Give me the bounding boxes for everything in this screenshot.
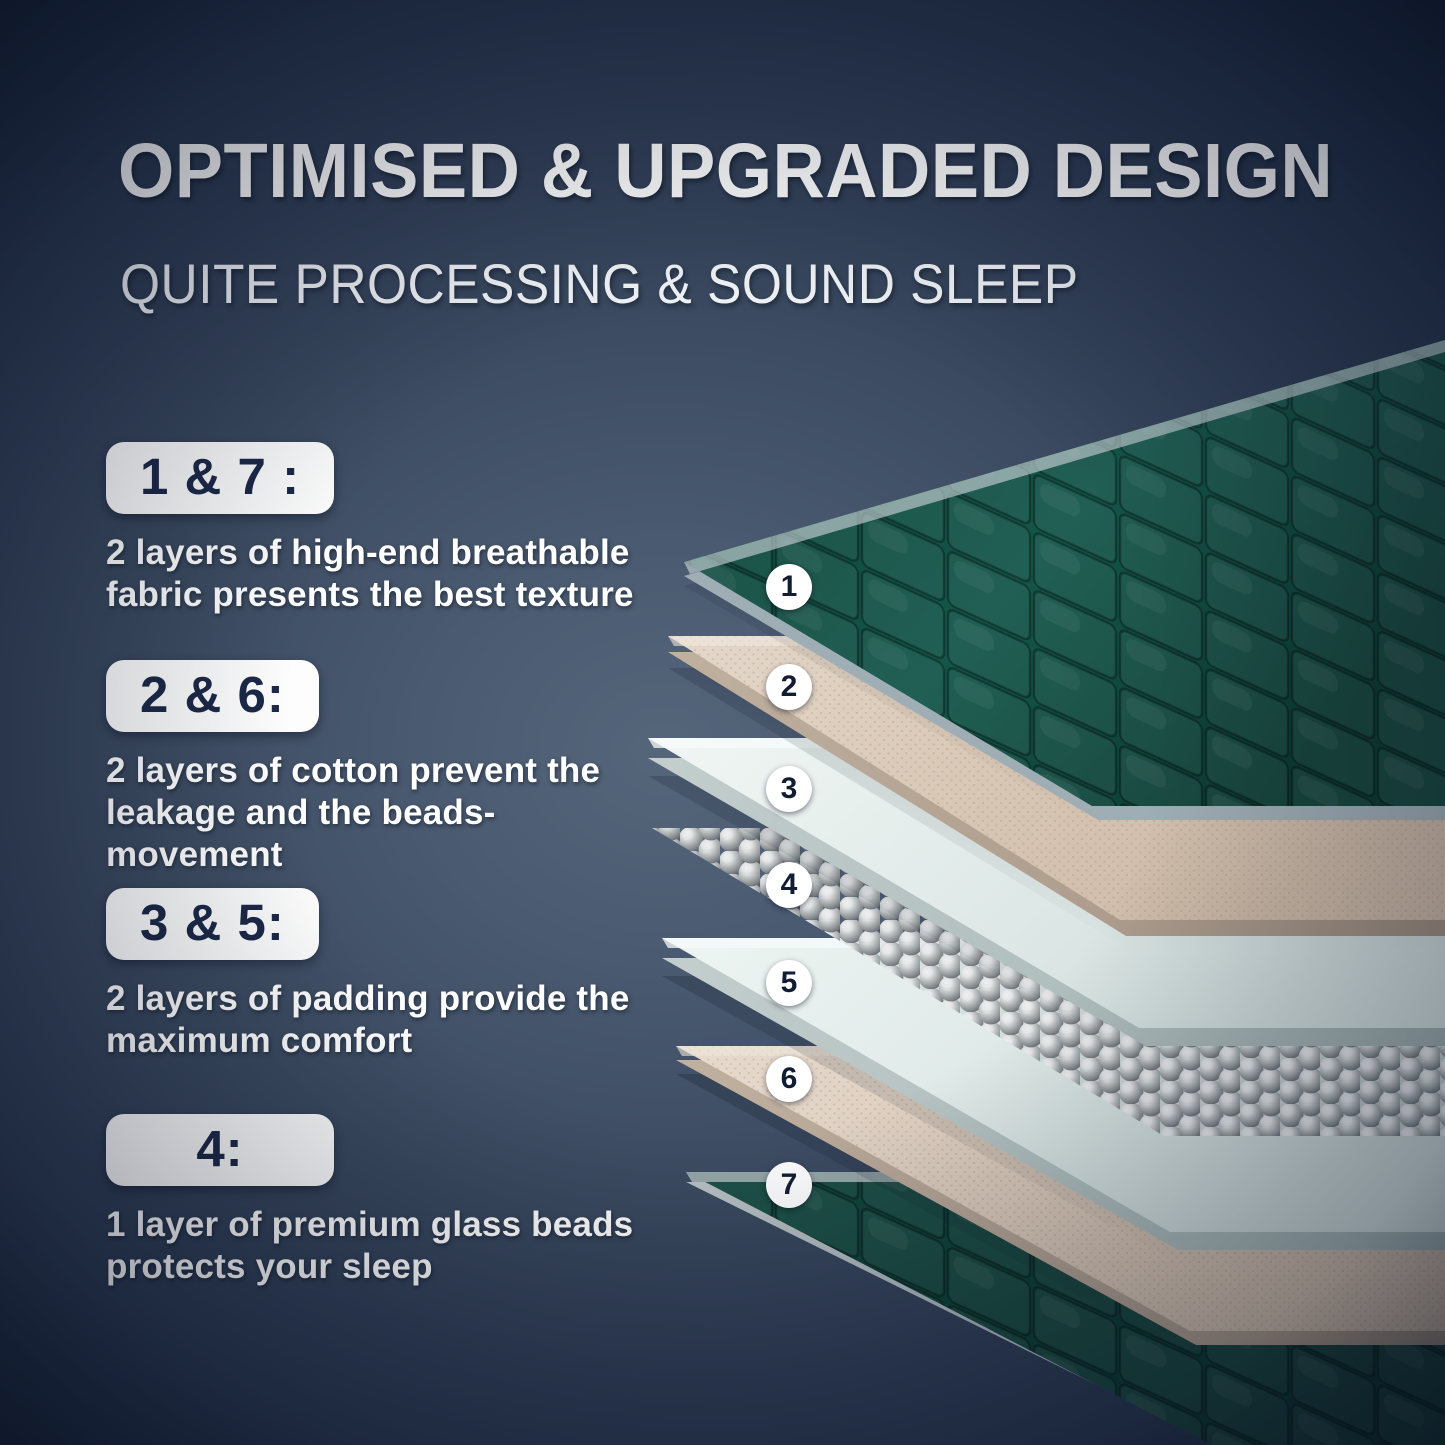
feature-block-4: 4: 1 layer of premium glass beads protec… — [106, 1114, 666, 1288]
feature-description: 2 layers of high-end breathable fabric p… — [106, 532, 666, 616]
layer-marker-2[interactable]: 2 — [766, 664, 812, 710]
layer-marker-3[interactable]: 3 — [766, 766, 812, 812]
layer-marker-7[interactable]: 7 — [766, 1162, 812, 1208]
feature-badge-label: 1 & 7 : — [140, 449, 300, 505]
infographic-canvas: 1 2 3 4 5 6 7 OPTIMISED & UPGRADED DESIG… — [0, 0, 1445, 1445]
feature-badge-4: 4: — [106, 1114, 334, 1186]
feature-badge-3-and-5: 3 & 5: — [106, 888, 319, 960]
feature-badge-label: 3 & 5: — [140, 895, 285, 951]
feature-description: 2 layers of cotton prevent the leakage a… — [106, 750, 666, 876]
feature-badge-label: 4: — [140, 1121, 300, 1177]
feature-description: 1 layer of premium glass beads protects … — [106, 1204, 666, 1288]
layer-marker-1[interactable]: 1 — [766, 564, 812, 610]
layer-marker-6[interactable]: 6 — [766, 1056, 812, 1102]
feature-block-3-and-5: 3 & 5: 2 layers of padding provide the m… — [106, 888, 666, 1062]
feature-badge-label: 2 & 6: — [140, 667, 285, 723]
feature-badge-2-and-6: 2 & 6: — [106, 660, 319, 732]
feature-badge-1-and-7: 1 & 7 : — [106, 442, 334, 514]
page-subtitle: QUITE PROCESSING & SOUND SLEEP — [120, 252, 1079, 316]
feature-block-1-and-7: 1 & 7 : 2 layers of high-end breathable … — [106, 442, 666, 616]
layer-marker-5[interactable]: 5 — [766, 960, 812, 1006]
layer-marker-4[interactable]: 4 — [766, 862, 812, 908]
page-title: OPTIMISED & UPGRADED DESIGN — [118, 128, 1333, 214]
feature-description: 2 layers of padding provide the maximum … — [106, 978, 666, 1062]
feature-block-2-and-6: 2 & 6: 2 layers of cotton prevent the le… — [106, 660, 666, 876]
